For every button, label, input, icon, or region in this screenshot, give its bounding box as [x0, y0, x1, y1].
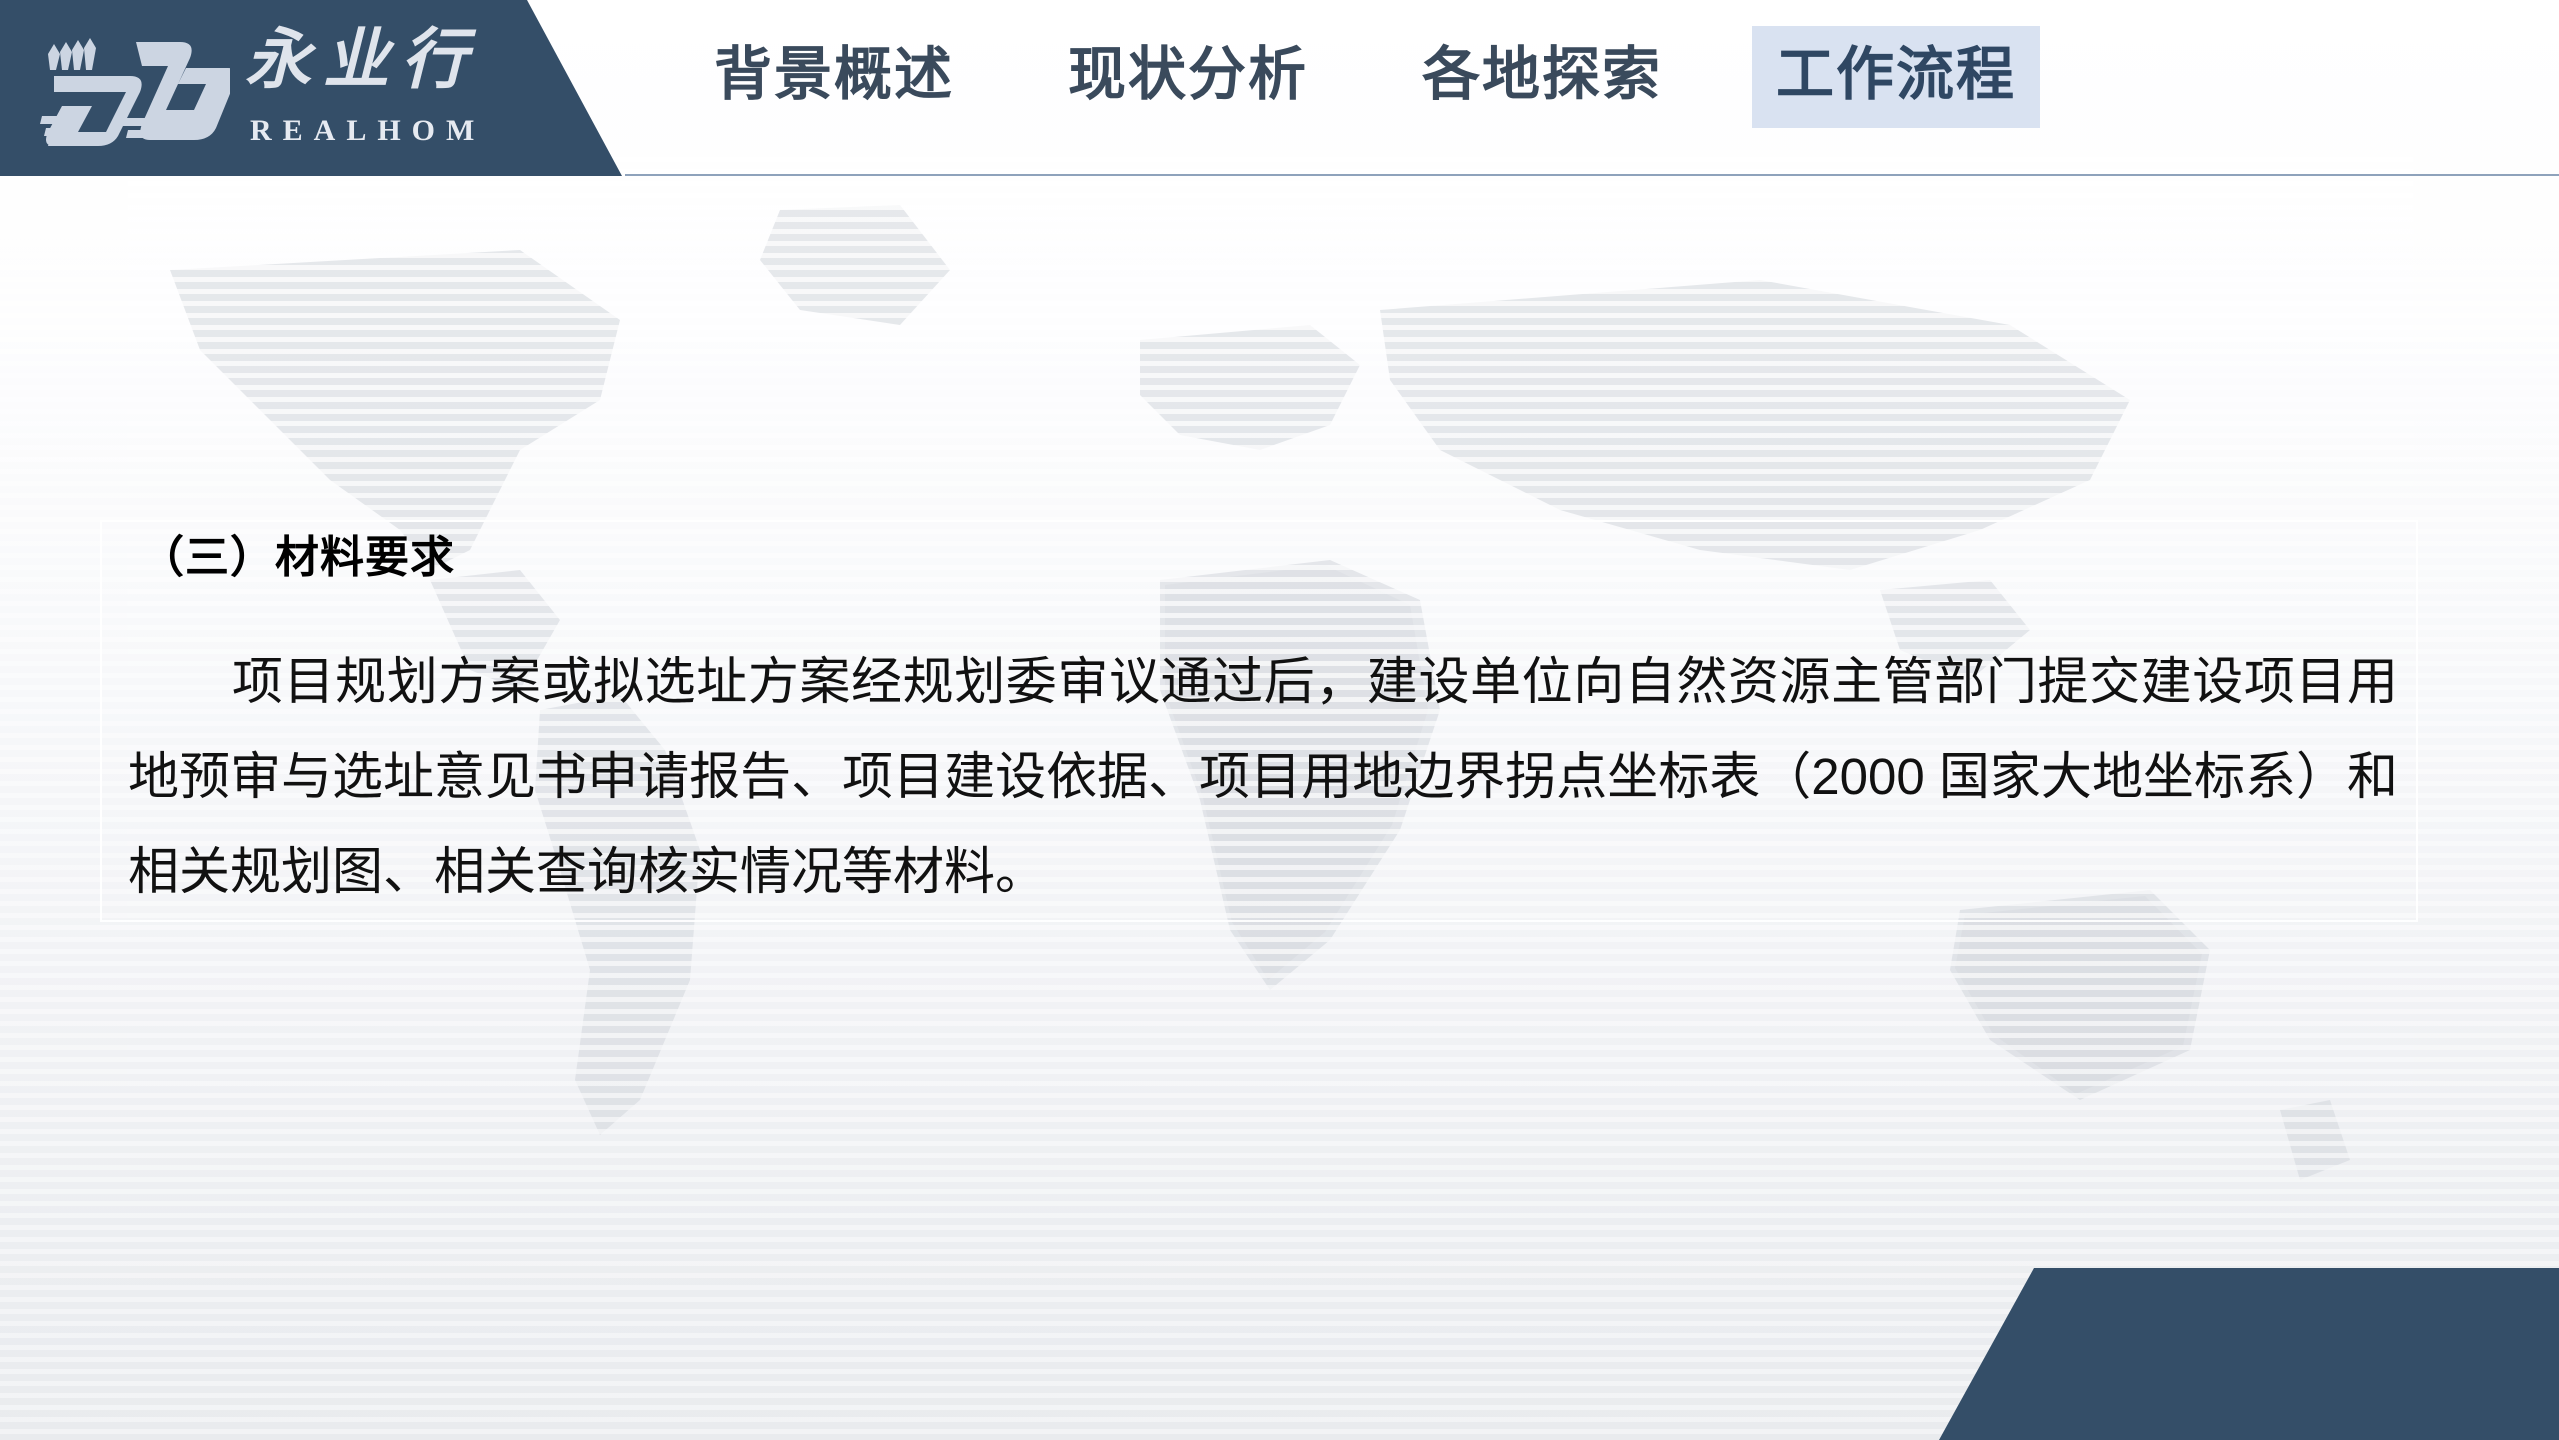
presentation-slide: 永业行 REALHOM 背景概述 现状分析 各地探索 工作流程 （三）材料要求 …: [0, 0, 2559, 1440]
section-heading: （三）材料要求: [140, 536, 455, 580]
brand-name-cn: 永业行: [245, 28, 479, 94]
header-divider: [625, 174, 2559, 176]
nav-tab-workflow[interactable]: 工作流程: [1752, 26, 2040, 128]
corner-decoration: [1939, 1268, 2559, 1440]
nav-tab-regional-exploration[interactable]: 各地探索: [1398, 26, 1686, 128]
realhom-logo-icon: [40, 36, 230, 148]
slide-header: 永业行 REALHOM 背景概述 现状分析 各地探索 工作流程: [0, 0, 2559, 180]
brand-name-en: REALHOM: [250, 116, 485, 146]
nav-tab-background[interactable]: 背景概述: [690, 26, 978, 128]
content-card: （三）材料要求 项目规划方案或拟选址方案经规划委审议通过后，建设单位向自然资源主…: [100, 520, 2418, 922]
nav-tab-current-analysis[interactable]: 现状分析: [1044, 26, 1332, 128]
section-paragraph: 项目规划方案或拟选址方案经规划委审议通过后，建设单位向自然资源主管部门提交建设项…: [128, 634, 2398, 919]
top-navigation: 背景概述 现状分析 各地探索 工作流程: [690, 22, 2040, 132]
